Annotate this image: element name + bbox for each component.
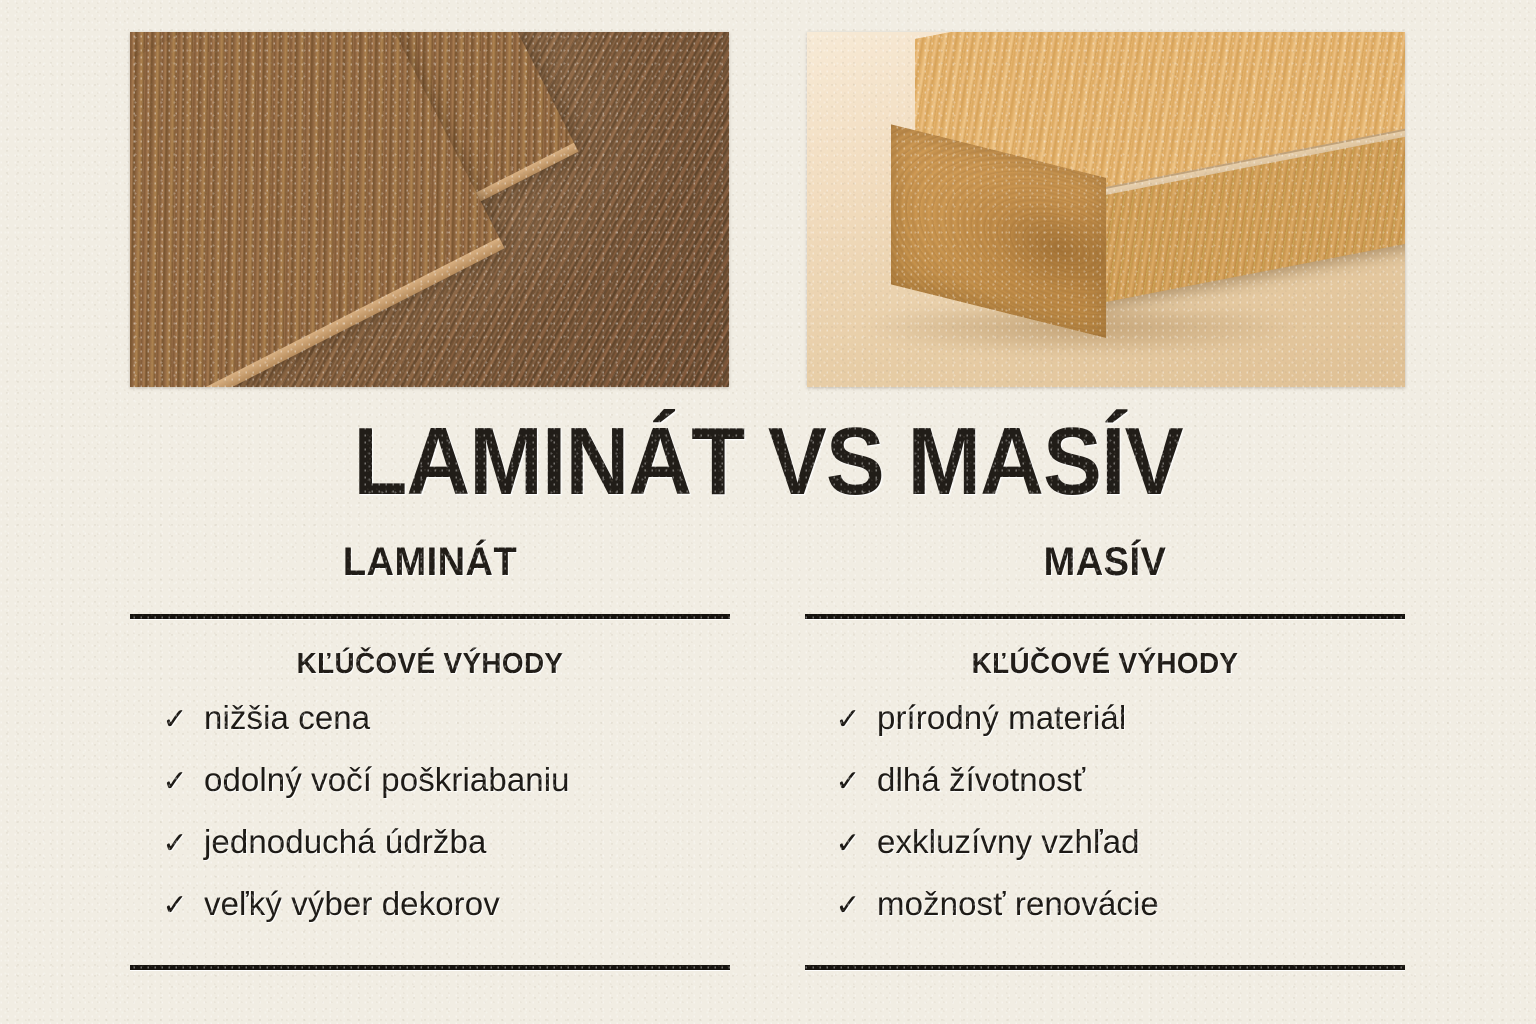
benefit-label: možnosť renovácie bbox=[877, 887, 1159, 920]
benefit-label: odolný vočí poškriabaniu bbox=[204, 763, 570, 796]
list-item: ✓ prírodný materiál bbox=[835, 701, 1405, 735]
benefits-heading-laminate: KĽÚČOVÉ VÝHODY bbox=[142, 648, 718, 681]
list-item: ✓ exkluzívny vzhľad bbox=[835, 825, 1405, 859]
check-icon: ✓ bbox=[835, 891, 861, 921]
benefit-label: jednoduchá údržba bbox=[204, 825, 486, 858]
comparison-column-solid: MASÍV KĽÚČOVÉ VÝHODY ✓ prírodný materiál… bbox=[805, 540, 1405, 971]
check-icon: ✓ bbox=[162, 829, 188, 859]
benefit-label: veľký výber dekorov bbox=[204, 887, 500, 920]
check-icon: ✓ bbox=[835, 705, 861, 735]
spacer bbox=[130, 949, 730, 965]
list-item: ✓ možnosť renovácie bbox=[835, 887, 1405, 921]
column-title-solid: MASÍV bbox=[820, 540, 1390, 585]
comparison-column-laminate: LAMINÁT KĽÚČOVÉ VÝHODY ✓ nižšia cena ✓ o… bbox=[130, 540, 730, 971]
list-item: ✓ jednoduchá údržba bbox=[162, 825, 730, 859]
list-item: ✓ dlhá žívotnosť bbox=[835, 763, 1405, 797]
column-title-laminate: LAMINÁT bbox=[145, 540, 715, 585]
check-icon: ✓ bbox=[162, 891, 188, 921]
solid-wood-photo bbox=[807, 32, 1405, 387]
spacer bbox=[805, 949, 1405, 965]
laminate-photo bbox=[130, 32, 729, 387]
benefits-heading-solid: KĽÚČOVÉ VÝHODY bbox=[817, 648, 1393, 681]
check-icon: ✓ bbox=[162, 767, 188, 797]
check-icon: ✓ bbox=[835, 829, 861, 859]
page-title: LAMINÁT VS MASÍV bbox=[61, 414, 1474, 510]
benefit-list-laminate: ✓ nižšia cena ✓ odolný vočí poškriabaniu… bbox=[130, 701, 730, 921]
check-icon: ✓ bbox=[162, 705, 188, 735]
benefit-list-solid: ✓ prírodný materiál ✓ dlhá žívotnosť ✓ e… bbox=[805, 701, 1405, 921]
benefit-label: prírodný materiál bbox=[877, 701, 1126, 734]
column-divider-top-laminate bbox=[130, 614, 730, 620]
list-item: ✓ odolný vočí poškriabaniu bbox=[162, 763, 730, 797]
column-divider-bottom-laminate bbox=[130, 965, 730, 971]
column-divider-bottom-solid bbox=[805, 965, 1405, 971]
check-icon: ✓ bbox=[835, 767, 861, 797]
list-item: ✓ veľký výber dekorov bbox=[162, 887, 730, 921]
benefit-label: nižšia cena bbox=[204, 701, 370, 734]
benefit-label: dlhá žívotnosť bbox=[877, 763, 1085, 796]
list-item: ✓ nižšia cena bbox=[162, 701, 730, 735]
column-divider-top-solid bbox=[805, 614, 1405, 620]
benefit-label: exkluzívny vzhľad bbox=[877, 825, 1140, 858]
